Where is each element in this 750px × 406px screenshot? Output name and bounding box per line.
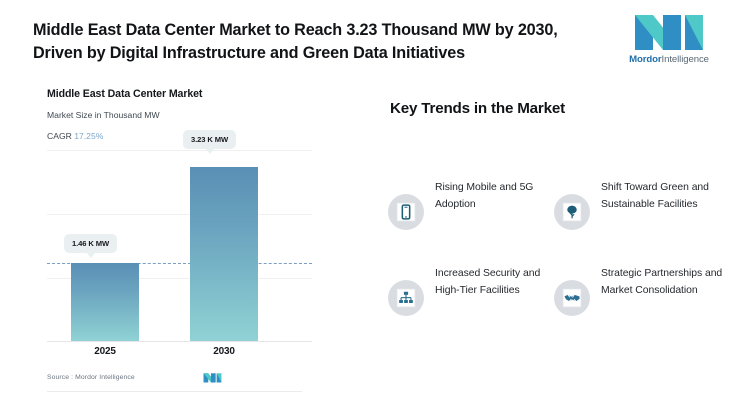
logo-brand-light: Intelligence xyxy=(662,54,709,65)
gridline xyxy=(47,150,312,151)
trend-item-green-sustainable[interactable]: Shift Toward Green and Sustainable Facil… xyxy=(554,180,734,266)
cagr-label: CAGR xyxy=(47,131,72,141)
trend-label: Shift Toward Green and Sustainable Facil… xyxy=(601,180,734,214)
handshake-icon xyxy=(554,280,590,316)
trend-label: Increased Security and High-Tier Facilit… xyxy=(435,266,554,300)
page-title: Middle East Data Center Market to Reach … xyxy=(33,19,593,65)
chart-plot-area: 1.46 K MW 3.23 K MW xyxy=(47,150,312,342)
cagr-value: 17.25% xyxy=(74,131,103,141)
trend-item-security-high-tier[interactable]: Increased Security and High-Tier Facilit… xyxy=(388,266,554,352)
logo-brand-bold: Mordor xyxy=(629,54,661,65)
x-axis-tick-2025: 2025 xyxy=(71,346,139,357)
chart-subtitle: Market Size in Thousand MW xyxy=(47,110,312,120)
bar-2025[interactable] xyxy=(71,263,139,341)
trend-label: Strategic Partnerships and Market Consol… xyxy=(601,266,734,300)
bar-value-callout-2030: 3.23 K MW xyxy=(183,130,236,149)
mobile-phone-icon xyxy=(388,194,424,230)
bar-2030[interactable] xyxy=(190,167,258,341)
market-size-chart-panel: Middle East Data Center Market Market Si… xyxy=(47,88,312,388)
mordor-logo-mark xyxy=(633,12,705,50)
chart-axis-baseline xyxy=(47,341,312,342)
trend-item-strategic-partnerships[interactable]: Strategic Partnerships and Market Consol… xyxy=(554,266,734,352)
key-trends-panel: Key Trends in the Market Rising Mobile a… xyxy=(388,100,728,117)
trend-item-mobile-5g[interactable]: Rising Mobile and 5G Adoption xyxy=(388,180,554,266)
bar-value-callout-2025: 1.46 K MW xyxy=(64,234,117,253)
chart-cagr: CAGR 17.25% xyxy=(47,131,312,141)
network-hierarchy-icon xyxy=(388,280,424,316)
footer-logo-mark xyxy=(203,372,222,383)
chart-source-text: Source : Mordor Intelligence xyxy=(47,374,135,381)
mordor-logo-wordmark: MordorIntelligence xyxy=(629,54,709,65)
mordor-intelligence-logo: MordorIntelligence xyxy=(617,12,721,65)
key-trends-heading: Key Trends in the Market xyxy=(390,100,728,117)
chart-footer: Source : Mordor Intelligence xyxy=(47,372,312,383)
chart-panel-divider xyxy=(47,391,302,392)
x-axis-tick-2030: 2030 xyxy=(190,346,258,357)
chart-title: Middle East Data Center Market xyxy=(47,88,312,100)
gridline xyxy=(47,214,312,215)
trend-label: Rising Mobile and 5G Adoption xyxy=(435,180,554,214)
key-trends-grid: Rising Mobile and 5G Adoption Shift Towa… xyxy=(388,180,734,352)
tree-icon xyxy=(554,194,590,230)
